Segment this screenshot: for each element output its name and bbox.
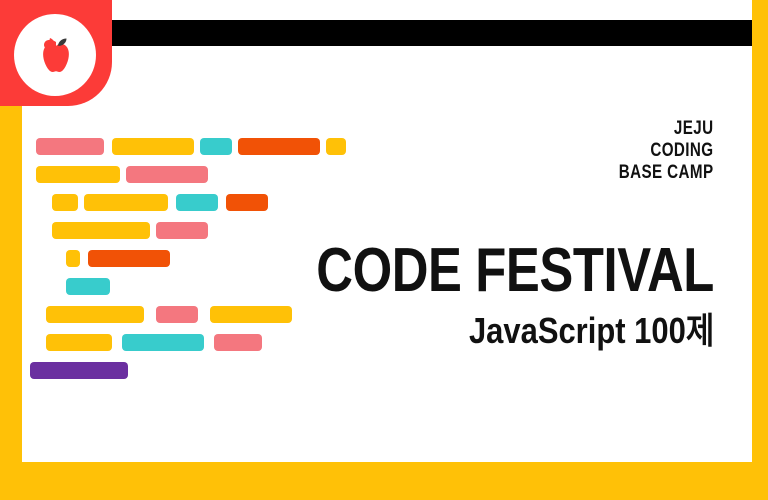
brand-line-3: BASE CAMP: [619, 162, 714, 184]
page-title: CODE FESTIVAL: [316, 240, 714, 302]
apple-icon: [28, 28, 84, 84]
page-subtitle: JavaScript 100제: [469, 312, 714, 350]
top-black-band: [112, 20, 752, 46]
logo-tile: [0, 0, 112, 106]
brand-line-1: JEJU: [619, 118, 714, 140]
brand-line-2: CODING: [619, 140, 714, 162]
brand-name-block: JEJU CODING BASE CAMP: [619, 118, 714, 184]
poster-root: JEJU CODING BASE CAMP CODE FESTIVAL Java…: [0, 0, 768, 500]
poster-canvas: [22, 0, 752, 462]
